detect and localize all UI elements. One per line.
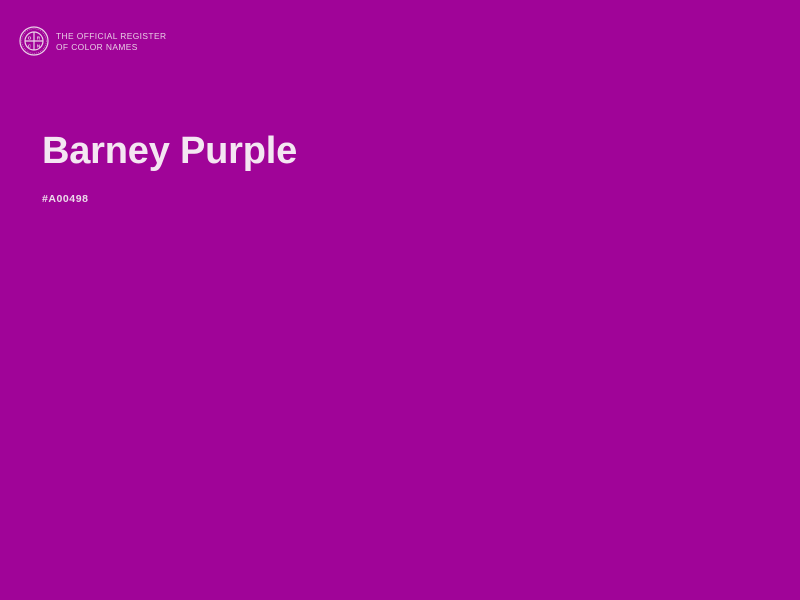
svg-text:R: R	[37, 35, 41, 40]
color-swatch-page: O R C N THE OFFICIAL REGISTER OF COLOR N…	[0, 0, 800, 600]
brand-line-1: THE OFFICIAL REGISTER	[56, 31, 166, 41]
color-info-block: Barney Purple #A00498	[42, 128, 642, 206]
color-hex-code: #A00498	[42, 192, 642, 206]
brand-wordmark: THE OFFICIAL REGISTER OF COLOR NAMES	[56, 30, 166, 52]
svg-text:N: N	[37, 44, 40, 49]
brand-line-2: OF COLOR NAMES	[56, 42, 166, 52]
brand-logo[interactable]: O R C N THE OFFICIAL REGISTER OF COLOR N…	[19, 26, 166, 56]
svg-text:O: O	[28, 35, 32, 40]
svg-text:C: C	[28, 44, 32, 49]
color-name: Barney Purple	[42, 128, 642, 174]
register-seal-icon: O R C N	[19, 26, 49, 56]
